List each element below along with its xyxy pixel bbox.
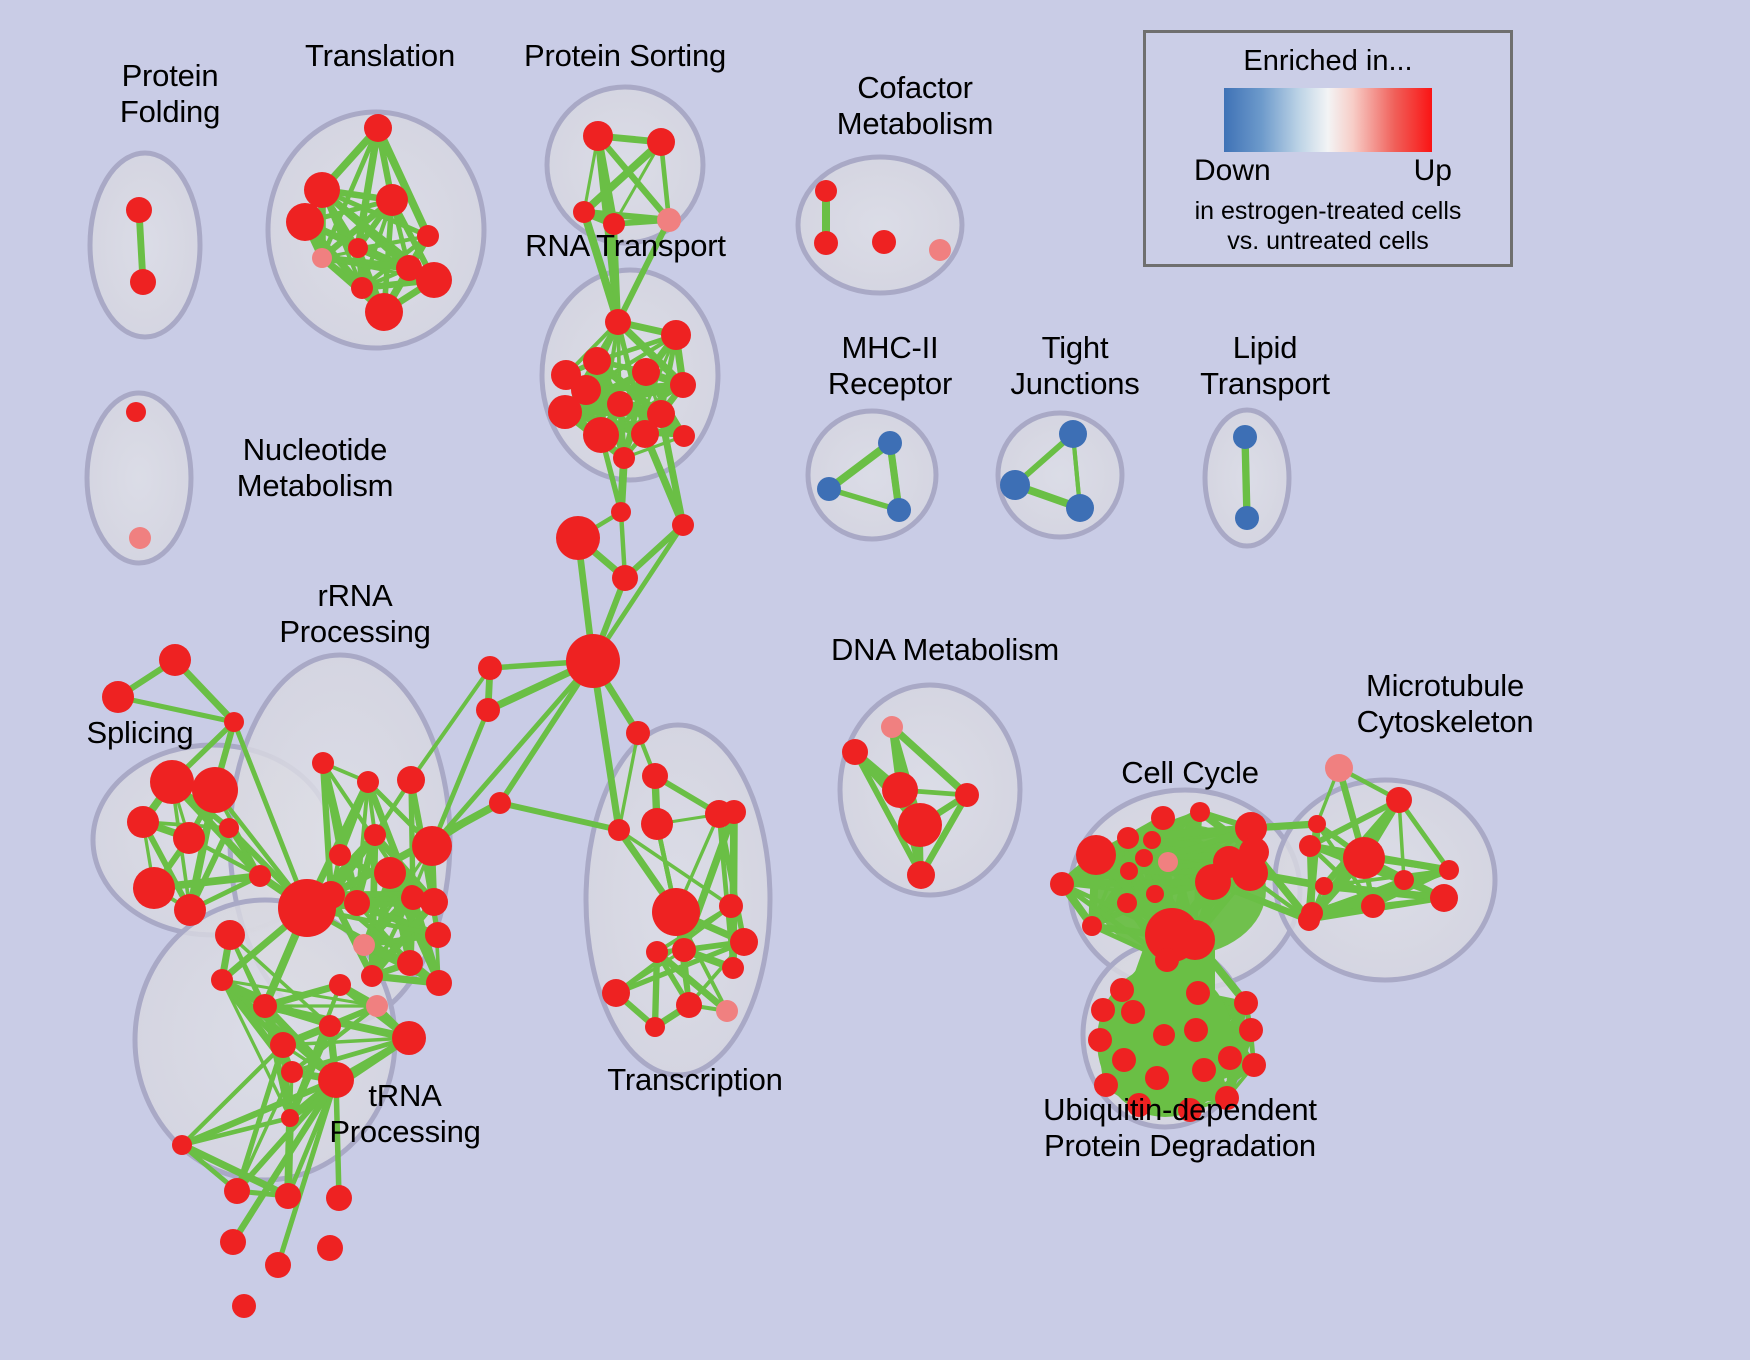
- network-node: [224, 712, 244, 732]
- network-node: [657, 208, 681, 232]
- network-node: [476, 698, 500, 722]
- network-node: [1218, 1046, 1242, 1070]
- network-node: [365, 293, 403, 331]
- network-node: [219, 818, 239, 838]
- network-node: [602, 979, 630, 1007]
- network-node: [1151, 806, 1175, 830]
- network-node: [646, 941, 668, 963]
- network-node: [672, 938, 696, 962]
- network-node: [361, 965, 383, 987]
- network-node: [420, 888, 448, 916]
- network-node: [1094, 1073, 1118, 1097]
- network-node: [1394, 870, 1414, 890]
- network-node: [357, 771, 379, 793]
- network-node: [130, 269, 156, 295]
- network-node: [612, 565, 638, 591]
- network-node: [318, 1062, 354, 1098]
- network-node: [1184, 1018, 1208, 1042]
- cluster-ellipse-mhc-ii-receptor: [808, 411, 936, 539]
- network-node: [127, 806, 159, 838]
- network-node: [673, 425, 695, 447]
- network-node: [1158, 852, 1178, 872]
- network-node: [1233, 425, 1257, 449]
- network-node: [1146, 885, 1164, 903]
- network-node: [172, 1135, 192, 1155]
- legend-box: Enriched in... Down Up in estrogen-treat…: [1143, 30, 1513, 267]
- network-node: [426, 970, 452, 996]
- network-node: [647, 128, 675, 156]
- network-node: [607, 391, 633, 417]
- network-node: [215, 920, 245, 950]
- network-node: [317, 1235, 343, 1261]
- network-node: [1299, 835, 1321, 857]
- network-edge: [1245, 437, 1247, 518]
- network-node: [556, 516, 600, 560]
- legend-down-label: Down: [1194, 154, 1271, 188]
- network-node: [174, 894, 206, 926]
- network-node: [478, 656, 502, 680]
- network-node: [1239, 1018, 1263, 1042]
- network-node: [573, 201, 595, 223]
- network-node: [626, 721, 650, 745]
- network-node: [608, 819, 630, 841]
- network-node: [129, 527, 151, 549]
- network-node: [722, 800, 746, 824]
- network-node: [364, 114, 392, 142]
- network-node: [1155, 948, 1179, 972]
- network-node: [1143, 831, 1161, 849]
- network-node: [872, 230, 896, 254]
- network-node: [631, 420, 659, 448]
- network-node: [126, 402, 146, 422]
- network-node: [881, 716, 903, 738]
- network-node: [929, 239, 951, 261]
- network-node: [661, 320, 691, 350]
- network-node: [898, 803, 942, 847]
- network-node: [1050, 872, 1074, 896]
- network-node: [613, 447, 635, 469]
- network-node: [672, 514, 694, 536]
- network-node: [126, 197, 152, 223]
- network-node: [632, 358, 660, 386]
- network-node: [730, 928, 758, 956]
- network-node: [425, 922, 451, 948]
- network-node: [1343, 837, 1385, 879]
- network-node: [645, 1017, 665, 1037]
- network-node: [304, 172, 340, 208]
- network-node: [548, 395, 582, 429]
- network-node: [583, 417, 619, 453]
- network-node: [329, 974, 351, 996]
- network-node: [348, 238, 368, 258]
- network-node: [1430, 884, 1458, 912]
- network-node: [211, 969, 233, 991]
- network-node: [312, 752, 334, 774]
- network-node: [676, 992, 702, 1018]
- network-node: [1000, 470, 1030, 500]
- legend-up-label: Up: [1414, 154, 1452, 188]
- network-node: [1110, 978, 1134, 1002]
- network-node: [611, 502, 631, 522]
- network-node: [1242, 1053, 1266, 1077]
- network-node: [1325, 754, 1353, 782]
- network-node: [1234, 991, 1258, 1015]
- network-figure: Protein FoldingTranslationProtein Sortin…: [0, 0, 1750, 1360]
- network-node: [1066, 494, 1094, 522]
- network-node: [192, 767, 238, 813]
- network-node: [364, 824, 386, 846]
- network-node: [281, 1061, 303, 1083]
- network-node: [814, 231, 838, 255]
- network-node: [281, 1109, 299, 1127]
- legend-title: Enriched in...: [1146, 45, 1510, 78]
- network-node: [583, 121, 613, 151]
- network-node: [249, 865, 271, 887]
- network-node: [1117, 893, 1137, 913]
- network-node: [652, 888, 700, 936]
- network-node: [1127, 1093, 1151, 1117]
- network-node: [397, 950, 423, 976]
- network-node: [1135, 849, 1153, 867]
- network-node: [1117, 827, 1139, 849]
- network-node: [1315, 877, 1333, 895]
- network-node: [376, 184, 408, 216]
- network-node: [312, 248, 332, 268]
- network-node: [416, 262, 452, 298]
- network-node: [224, 1178, 250, 1204]
- network-node: [815, 180, 837, 202]
- network-node: [1232, 855, 1268, 891]
- network-node: [1192, 1058, 1216, 1082]
- network-node: [1178, 1098, 1202, 1122]
- network-node: [1386, 787, 1412, 813]
- network-node: [417, 225, 439, 247]
- network-node: [270, 1032, 296, 1058]
- network-node: [842, 739, 868, 765]
- network-node: [133, 867, 175, 909]
- network-node: [286, 203, 324, 241]
- network-node: [220, 1229, 246, 1255]
- network-node: [1120, 862, 1138, 880]
- network-node: [907, 861, 935, 889]
- legend-end-labels: Down Up: [1188, 154, 1468, 194]
- network-node: [878, 431, 902, 455]
- network-node: [1059, 420, 1087, 448]
- network-node: [412, 826, 452, 866]
- network-node: [1153, 1024, 1175, 1046]
- network-node: [319, 1015, 341, 1037]
- network-node: [1076, 835, 1116, 875]
- network-node: [1186, 981, 1210, 1005]
- network-node: [603, 213, 625, 235]
- network-node: [1308, 815, 1326, 833]
- network-node: [232, 1294, 256, 1318]
- network-node: [1361, 894, 1385, 918]
- network-node: [392, 1021, 426, 1055]
- network-node: [1298, 909, 1320, 931]
- network-node: [1121, 1000, 1145, 1024]
- network-node: [1112, 1048, 1136, 1072]
- network-node: [150, 760, 194, 804]
- network-node: [102, 681, 134, 713]
- network-node: [265, 1252, 291, 1278]
- network-node: [326, 1185, 352, 1211]
- network-node: [1091, 998, 1115, 1022]
- network-node: [159, 644, 191, 676]
- network-node: [1088, 1028, 1112, 1052]
- network-node: [489, 792, 511, 814]
- network-node: [722, 957, 744, 979]
- legend-color-bar: [1224, 88, 1432, 152]
- network-node: [351, 277, 373, 299]
- network-node: [1235, 506, 1259, 530]
- network-node: [353, 934, 375, 956]
- network-node: [605, 309, 631, 335]
- network-node: [1190, 802, 1210, 822]
- network-node: [719, 894, 743, 918]
- cluster-ellipse-protein-folding: [90, 153, 200, 337]
- network-node: [366, 995, 388, 1017]
- network-node: [173, 822, 205, 854]
- network-node: [1145, 1066, 1169, 1090]
- network-node: [641, 808, 673, 840]
- network-node: [253, 994, 277, 1018]
- network-node: [275, 1183, 301, 1209]
- network-node: [670, 372, 696, 398]
- network-node: [329, 844, 351, 866]
- network-node: [882, 772, 918, 808]
- network-node: [955, 783, 979, 807]
- legend-subtitle: in estrogen-treated cells vs. untreated …: [1146, 196, 1510, 256]
- network-node: [1215, 1086, 1239, 1110]
- network-node: [374, 857, 406, 889]
- network-node: [1439, 860, 1459, 880]
- network-node: [887, 498, 911, 522]
- network-node: [1195, 864, 1231, 900]
- network-node: [1175, 920, 1215, 960]
- network-node: [278, 879, 336, 937]
- network-node: [566, 634, 620, 688]
- network-node: [397, 766, 425, 794]
- network-node: [642, 763, 668, 789]
- network-node: [817, 477, 841, 501]
- network-node: [583, 347, 611, 375]
- network-node: [1082, 916, 1102, 936]
- network-node: [716, 1000, 738, 1022]
- network-node: [344, 890, 370, 916]
